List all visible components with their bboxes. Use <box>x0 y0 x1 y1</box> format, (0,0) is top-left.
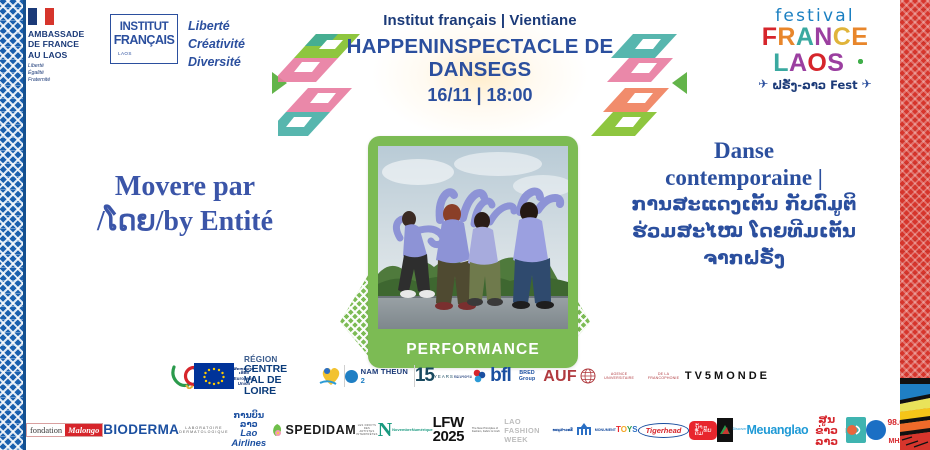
logo-lao-news: ສູນຂ່າວລາວ <box>808 414 846 447</box>
left-headline-line2: /ໂດຍ/by Entité <box>40 205 330 240</box>
bfl-sub: BRED Group <box>511 370 543 382</box>
lfw-title: LFW 2025 <box>433 416 472 445</box>
years-label: YEARS <box>434 374 454 379</box>
years-number: 15 <box>415 367 434 385</box>
novembre-letter: N <box>378 421 392 439</box>
logo-novembre-numerique: N Novembre Numérique <box>378 421 433 439</box>
festival-word-laos: LAOS <box>740 51 890 77</box>
malongo-part2: Malongo <box>65 424 102 436</box>
plane-icon-right: ✈ <box>862 77 872 91</box>
spedidam-main: SPEDIDAM <box>285 424 356 437</box>
auf-globe-icon <box>580 368 596 384</box>
logo-tv5-monde: TV5 MONDE <box>685 370 770 382</box>
rcvl-heart-icon <box>318 365 344 387</box>
novembre-sub2: Numérique <box>412 428 433 433</box>
spedidam-sub: LES DROITS DES ARTISTES INTERPRÈTES <box>356 424 377 436</box>
lao-textile-border-right <box>900 0 930 450</box>
logo-lao-fashion-week: LFW 2025 The New Principles of Fashion, … <box>433 416 553 445</box>
embassy-logo: AMBASSADE DE FRANCE AU LAOS Liberté Égal… <box>28 8 106 84</box>
logo-15-years: 15 YEARS <box>415 367 454 385</box>
colorful-corner-ornament <box>900 378 930 450</box>
event-datetime: 16/11 | 18:00 <box>290 85 670 106</box>
lfw-mid: The New Principles of Fashion, Fabric & … <box>472 427 504 433</box>
logo-bfl-bred-group: ທະນາຄານ bfl BRED Group <box>454 367 543 385</box>
logo-tigerhead: Tigerhead <box>638 423 690 438</box>
embassy-line2: DE FRANCE <box>28 39 106 49</box>
festival-word-france: FRANCE <box>740 25 890 51</box>
logo-lao-red: ນ້ຳດື່ມ ທິບ <box>689 421 716 440</box>
logo-teal-brand <box>846 417 866 443</box>
festival-lao-tagline-row: ✈ ຝຣັ່ງ-ລາວ Fest ✈ <box>740 76 890 92</box>
lao-news-a: ສູນຂ່າວລາວ <box>808 414 845 447</box>
lao-airlines-flower-icon <box>269 419 285 441</box>
institut-line3: LAOS <box>118 51 132 56</box>
festival-france-laos-logo: festival FRANCE LAOS ✈ ຝຣັ່ງ-ລາວ Fest ✈ <box>740 8 890 92</box>
institut-line1: INSTITUT <box>120 22 169 34</box>
tv5-line1: TV5 <box>685 370 714 382</box>
logo-nam-theun-2: NAM THEUN 2 <box>345 367 414 385</box>
novembre-sub1: Novembre <box>392 428 412 433</box>
bioderma-sub: LABORATOIRE DERMATOLOGIQUE <box>179 426 228 434</box>
institut-francais-logo: INSTITUT FRANÇAIS LAOS <box>110 14 178 64</box>
logo-fondation-malongo: fondation Malongo <box>26 423 103 437</box>
logo-european-union: ສະຫະພາບ ເອີຣົບ European Union <box>204 363 244 389</box>
monument-icon <box>573 423 595 437</box>
header-text-block: Institut français | Vientiane HAPPENINSP… <box>290 12 670 106</box>
toys-mid: MONUMENT <box>595 428 616 432</box>
embassy-line3: AU LAOS <box>28 50 106 60</box>
left-headline: Movere par /ໂດຍ/by Entité <box>40 170 330 239</box>
tv5-line2: MONDE <box>714 370 770 382</box>
embassy-line1: AMBASSADE <box>28 29 106 39</box>
logo-bioderma: BIODERMA LABORATOIRE DERMATOLOGIQUE <box>103 423 228 437</box>
right-headline: Danse contemporaine | ການສະແດງເຕັ້ນ ກັບດ… <box>608 138 880 271</box>
nam-theun-orb-icon <box>345 370 358 383</box>
motto-egalite: Égalité <box>28 70 106 77</box>
right-headline-fr1: Danse <box>608 138 880 165</box>
laoair-lao: ການບິນລາວ <box>229 412 269 429</box>
logo-auf: AUF AGENCE UNIVERSITAIRE DE LA FRANCOPHO… <box>543 368 685 384</box>
festival-lao-tagline: ຝຣັ່ງ-ລາວ Fest <box>772 78 857 92</box>
logo-monument-toys: ອະນຸສາວະລີ MONUMENT TOYS <box>552 423 637 437</box>
bfl-main: bfl <box>490 367 511 385</box>
auf-main: AUF <box>543 369 577 384</box>
green-zigzag-ornament-left <box>340 272 370 358</box>
logo-region-centre-val-de-loire: RÉGION CENTRE VAL DE LOIRE <box>244 356 344 396</box>
motto-fraternite: Fraternité <box>28 77 106 84</box>
lao-red-line2: ທິບ <box>703 427 711 434</box>
abstract-mark-icon <box>717 422 733 438</box>
nam-theun-text: NAM THEUN <box>361 367 408 376</box>
right-headline-lo1: ການສະແດງເຕັ້ນ ກັບດົ່ມູຕິ <box>608 192 880 218</box>
bfl-mark-icon <box>472 368 488 384</box>
lfw-bottom: LAO FASHION WEEK <box>504 417 552 444</box>
teal-mark-icon <box>846 422 866 438</box>
auf-sub1: AGENCE UNIVERSITAIRE <box>596 372 642 381</box>
devise-creativite: Créativité <box>188 36 245 54</box>
logo-black-brand <box>717 418 733 442</box>
bioderma-main: BIODERMA <box>103 423 179 437</box>
event-poster: AMBASSADE DE FRANCE AU LAOS Liberté Égal… <box>0 0 930 450</box>
right-headline-fr2: contemporaine | <box>608 165 880 192</box>
logo-lao-airlines: ການບິນລາວ Lao Airlines <box>229 412 286 448</box>
organizer-line: Institut français | Vientiane <box>290 12 670 29</box>
rcvl-line3: VAL DE LOIRE <box>244 375 315 396</box>
toys-big: TOYS <box>616 426 638 434</box>
meuang-a: Discover <box>733 428 747 432</box>
eu-flag-icon <box>194 363 234 389</box>
nam-theun-number: 2 <box>361 376 365 385</box>
performance-card: PERFORMANCE <box>368 136 578 368</box>
devise-block: Liberté Créativité Diversité <box>188 18 245 71</box>
logo-radio-98: 98.0 MHz <box>866 412 904 448</box>
french-flag-icon <box>28 8 54 25</box>
event-title-line2: DANSEGS <box>290 59 670 82</box>
right-headline-lo3: ຈາກຝຣັ່ງ <box>608 246 880 272</box>
radio-globe-icon <box>866 420 886 440</box>
meuang-b: Meuanglao <box>747 424 809 437</box>
right-headline-lo2: ຮ່ວມສະໄໝ ໂດຍທີມເຕັ້ນ <box>608 219 880 245</box>
laoair-en: Lao Airlines <box>229 429 269 448</box>
malongo-part1: fondation <box>27 424 65 436</box>
toys-top: ອະນຸສາວະລີ <box>552 428 572 432</box>
logo-meuanglao: Discover Meuanglao <box>733 424 809 437</box>
devise-liberte: Liberté <box>188 18 245 36</box>
logo-spedidam: SPEDIDAM LES DROITS DES ARTISTES INTERPR… <box>285 424 377 437</box>
auf-sub2: DE LA FRANCOPHONIE <box>642 372 685 381</box>
devise-diversite: Diversité <box>188 54 245 72</box>
bfl-lao: ທະນາຄານ <box>454 374 472 379</box>
institut-line2: FRANÇAIS <box>114 34 175 47</box>
event-title-line1: HAPPENINSPECTACLE DE <box>290 36 670 59</box>
lao-red-line1: ນ້ຳດື່ມ <box>694 424 703 437</box>
plane-icon-left: ✈ <box>758 77 768 91</box>
sponsor-row-primary: ສະຫະພາບ ເອີຣົບ European Union RÉGION CEN… <box>170 356 770 396</box>
tigerhead-text: Tigerhead <box>646 426 682 435</box>
lao-textile-border-left <box>0 0 26 450</box>
sponsor-row-secondary: fondation Malongo BIODERMA LABORATOIRE D… <box>26 412 904 448</box>
performance-photo <box>378 146 568 329</box>
left-headline-line1: Movere par <box>40 170 330 205</box>
